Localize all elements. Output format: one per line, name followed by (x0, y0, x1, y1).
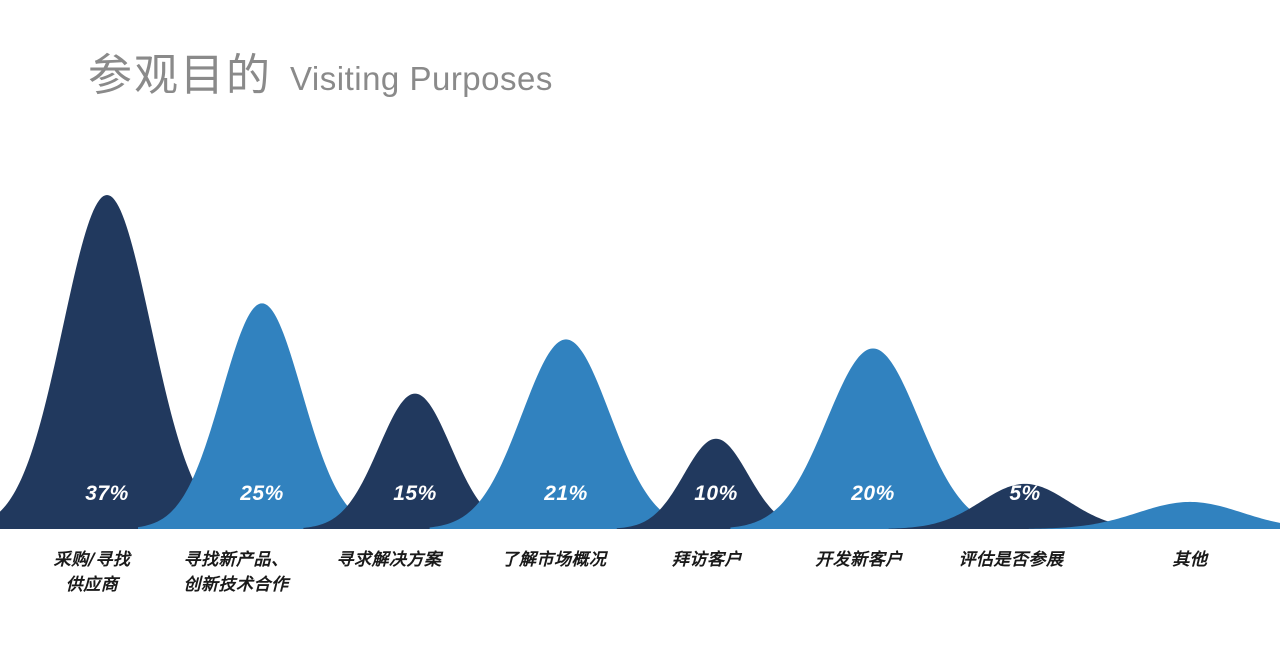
value-label-8: 3% (1174, 482, 1205, 505)
category-label-3: 寻求解决方案 (337, 548, 442, 573)
value-label-5: 10% (694, 482, 738, 505)
category-label-1: 采购/寻找供应商 (54, 548, 131, 597)
category-label-line: 了解市场概况 (502, 548, 607, 573)
category-label-line: 供应商 (54, 573, 131, 598)
category-label-line: 评估是否参展 (959, 548, 1064, 573)
value-label-7: 5% (1009, 482, 1040, 505)
category-label-line: 创新技术合作 (184, 573, 289, 598)
category-label-line: 开发新客户 (815, 548, 903, 573)
category-labels: 采购/寻找供应商寻找新产品、创新技术合作寻求解决方案了解市场概况拜访客户开发新客… (0, 540, 1280, 650)
value-label-4: 21% (543, 482, 588, 505)
category-label-line: 采购/寻找 (54, 548, 131, 573)
slide-canvas: 参观目的 Visiting Purposes 37%25%15%21%10%20… (0, 0, 1280, 661)
value-label-2: 25% (239, 482, 284, 505)
value-label-1: 37% (85, 482, 129, 505)
category-label-line: 其他 (1173, 548, 1208, 573)
category-label-5: 拜访客户 (672, 548, 742, 573)
category-label-line: 寻找新产品、 (184, 548, 289, 573)
curve-areas (0, 195, 1280, 529)
category-label-8: 其他 (1173, 548, 1208, 573)
category-label-line: 拜访客户 (672, 548, 742, 573)
category-label-6: 开发新客户 (815, 548, 903, 573)
category-label-line: 寻求解决方案 (337, 548, 442, 573)
category-label-4: 了解市场概况 (502, 548, 607, 573)
category-label-7: 评估是否参展 (959, 548, 1064, 573)
value-label-6: 20% (850, 482, 895, 505)
category-label-2: 寻找新产品、创新技术合作 (184, 548, 289, 597)
value-label-3: 15% (393, 482, 437, 505)
